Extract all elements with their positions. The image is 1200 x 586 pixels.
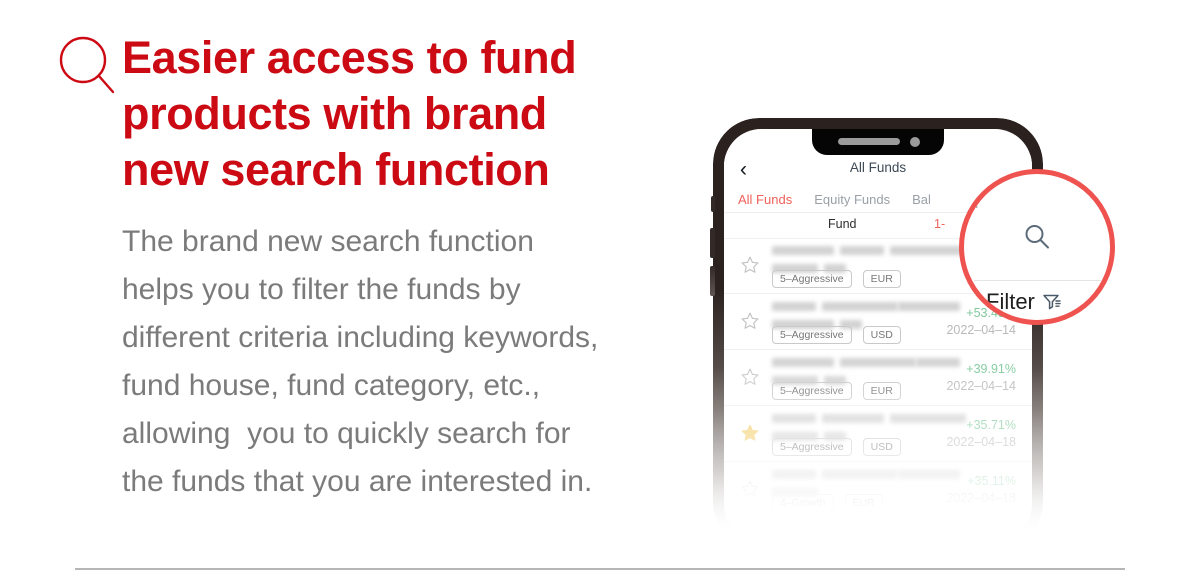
zoom-lens-callout: al Filter xyxy=(959,169,1115,325)
front-camera-icon xyxy=(910,137,920,147)
filter-label: Filter xyxy=(986,289,1035,315)
fund-tags: 5–Aggressive EUR xyxy=(772,270,901,288)
fund-tags: 5–Aggressive USD xyxy=(772,438,901,456)
page-title: Easier access to fund products with bran… xyxy=(122,30,662,198)
currency-tag: EUR xyxy=(863,382,901,400)
headline-line-1: Easier access to fund xyxy=(122,30,662,86)
column-header-fund[interactable]: Fund xyxy=(828,217,857,231)
fund-tags: 5–Aggressive USD xyxy=(772,326,901,344)
risk-tag: 5–Aggressive xyxy=(772,438,852,456)
zoom-lens-content: al Filter xyxy=(964,174,1110,320)
star-filled-icon[interactable] xyxy=(740,423,760,443)
search-icon[interactable] xyxy=(1022,222,1052,252)
performance-value: +39.91% xyxy=(946,361,1016,377)
tab-equity-funds[interactable]: Equity Funds xyxy=(814,192,890,207)
tab-fragment-label: al xyxy=(968,196,978,211)
volume-up-button[interactable] xyxy=(710,228,715,258)
fund-stats: +35.11% 2022–04–18 xyxy=(946,473,1016,507)
star-outline-icon[interactable] xyxy=(740,255,760,275)
star-outline-icon[interactable] xyxy=(740,479,760,499)
currency-tag: EUR xyxy=(845,494,883,512)
body-paragraph: The brand new search function helps you … xyxy=(122,218,687,506)
fund-stats: +39.91% 2022–04–14 xyxy=(946,361,1016,395)
fund-tags: 4–Growth EUR xyxy=(772,494,883,512)
mute-switch-button[interactable] xyxy=(711,196,715,212)
risk-tag: 5–Aggressive xyxy=(772,382,852,400)
performance-value: +35.11% xyxy=(946,473,1016,489)
as-of-date: 2022–04–18 xyxy=(946,489,1016,507)
as-of-date: 2022–04–14 xyxy=(946,321,1016,339)
currency-tag: EUR xyxy=(863,270,901,288)
body-line-2: helps you to filter the funds by xyxy=(122,266,687,314)
table-row[interactable]: 5–Aggressive USD +35.71% 2022–04–18 xyxy=(724,406,1032,462)
body-line-6: the funds that you are interested in. xyxy=(122,458,687,506)
search-icon xyxy=(58,36,116,94)
lens-divider xyxy=(974,280,1110,281)
performance-value: +35.71% xyxy=(946,417,1016,433)
table-row[interactable]: 4–Growth EUR +35.11% 2022–04–18 xyxy=(724,462,1032,518)
body-line-3: different criteria including keywords, xyxy=(122,314,687,362)
risk-tag: 4–Growth xyxy=(772,494,834,512)
body-line-5: allowing you to quickly search for xyxy=(122,410,687,458)
volume-down-button[interactable] xyxy=(710,266,715,296)
nav-title: All Funds xyxy=(724,160,1032,175)
table-row[interactable]: 5–Aggressive EUR +39.91% 2022–04–14 xyxy=(724,350,1032,406)
currency-tag: USD xyxy=(863,326,901,344)
currency-tag: USD xyxy=(863,438,901,456)
phone-notch xyxy=(812,129,944,155)
column-header-performance[interactable]: 1- xyxy=(934,217,945,231)
phone-device: ‹ All Funds All Funds Equity Funds Bal F… xyxy=(713,118,1043,548)
as-of-date: 2022–04–14 xyxy=(946,377,1016,395)
headline-line-3: new search function xyxy=(122,142,662,198)
as-of-date: 2022–04–18 xyxy=(946,433,1016,451)
left-content-column: Easier access to fund products with bran… xyxy=(0,0,700,540)
fund-stats: +35.71% 2022–04–18 xyxy=(946,417,1016,451)
slide-root: Easier access to fund products with bran… xyxy=(0,0,1200,586)
tab-balanced-funds[interactable]: Bal xyxy=(912,192,931,207)
filter-button[interactable]: Filter xyxy=(986,289,1062,315)
body-line-4: fund house, fund category, etc., xyxy=(122,362,687,410)
phone-mockup: ‹ All Funds All Funds Equity Funds Bal F… xyxy=(700,104,1120,564)
funnel-icon xyxy=(1042,292,1062,312)
headline-line-2: products with brand xyxy=(122,86,662,142)
body-line-1: The brand new search function xyxy=(122,218,687,266)
star-outline-icon[interactable] xyxy=(740,311,760,331)
risk-tag: 5–Aggressive xyxy=(772,326,852,344)
footer-divider xyxy=(75,568,1125,570)
risk-tag: 5–Aggressive xyxy=(772,270,852,288)
star-outline-icon[interactable] xyxy=(740,367,760,387)
earpiece-speaker xyxy=(838,138,900,145)
tab-all-funds[interactable]: All Funds xyxy=(738,192,792,207)
fund-tags: 5–Aggressive EUR xyxy=(772,382,901,400)
